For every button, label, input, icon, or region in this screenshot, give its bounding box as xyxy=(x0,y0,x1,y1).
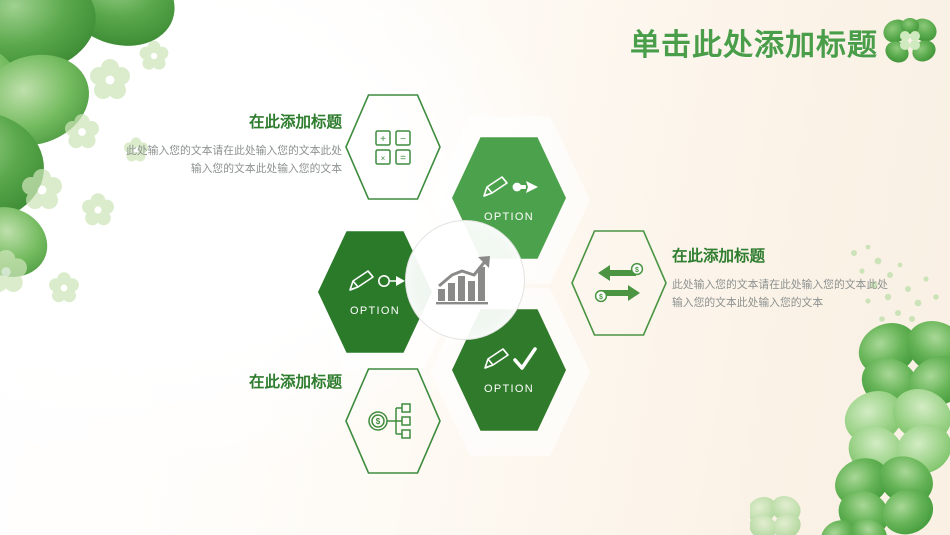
text-block-right-heading: 在此添加标题 xyxy=(672,246,894,268)
money-exchange-arrows-icon: $$ xyxy=(570,228,668,338)
svg-text:×: × xyxy=(381,154,386,163)
pencil-check-icon xyxy=(479,346,539,376)
pencil-pen-nib-icon xyxy=(478,174,540,204)
page-title: 单击此处添加标题 xyxy=(630,20,878,64)
svg-text:$: $ xyxy=(376,417,381,426)
svg-text:=: = xyxy=(400,153,406,164)
hexagon-money-transfer[interactable]: $$ xyxy=(570,228,668,338)
svg-text:+: + xyxy=(380,134,386,145)
clover-title-ornament-icon xyxy=(882,12,938,68)
hexagon-option-left-label: OPTION xyxy=(350,305,400,317)
text-block-right: 在此添加标题 此处输入您的文本请在此处输入您的文本此处输入您的文本此处输入您的文… xyxy=(672,246,894,312)
svg-text:$: $ xyxy=(635,267,639,274)
slide-canvas: 单击此处添加标题 在此添加标题 此处输入您的文本请在此处输入您的文本此处输入您的… xyxy=(0,0,950,535)
calculator-icon: +− ×= xyxy=(344,92,442,202)
svg-text:−: − xyxy=(400,134,406,145)
hexagon-calculator[interactable]: +− ×= xyxy=(344,92,442,202)
hexagon-option-top-label: OPTION xyxy=(484,211,534,223)
hexagon-cluster: +− ×= xyxy=(300,88,690,478)
hexagon-option-bottom-label: OPTION xyxy=(484,383,534,395)
hexagon-money-distribution[interactable]: $ xyxy=(344,366,442,476)
slide-title-block: 单击此处添加标题 xyxy=(630,20,878,64)
svg-text:$: $ xyxy=(599,294,603,301)
center-chart-circle[interactable] xyxy=(405,220,525,340)
pencil-link-arrow-icon xyxy=(344,268,406,298)
growth-bar-chart-icon xyxy=(434,253,496,307)
coin-hierarchy-icon: $ xyxy=(344,366,442,476)
text-block-right-body: 此处输入您的文本请在此处输入您的文本此处输入您的文本此处输入您的文本 xyxy=(672,277,894,313)
